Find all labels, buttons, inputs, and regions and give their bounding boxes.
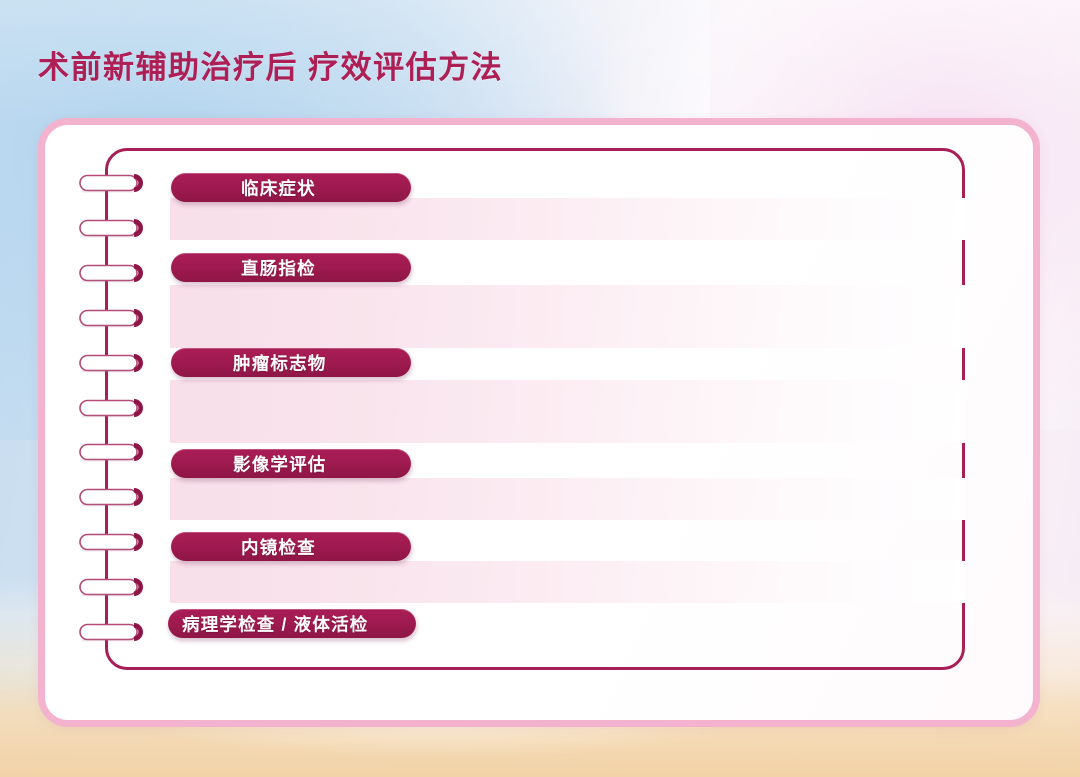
section-label-pill-imaging-evaluation[interactable]: 影像学评估 xyxy=(171,449,411,478)
section-body-panel xyxy=(170,285,965,348)
section-label-pill-endoscopy[interactable]: 内镜检查 xyxy=(171,532,411,561)
section-label-text: 直肠指检 xyxy=(241,255,316,280)
section-label-pill-digital-rectal-exam[interactable]: 直肠指检 xyxy=(171,253,411,282)
sections-container: 临床症状 通过对比新辅助治疗前后患者临床症状的改变，可以对疗效进行初步评估。 直… xyxy=(0,0,1080,777)
section-body-panel xyxy=(170,561,965,603)
section-label-text: 影像学评估 xyxy=(233,451,327,476)
section-body-panel xyxy=(170,380,965,443)
section-label-pill-clinical-symptoms[interactable]: 临床症状 xyxy=(171,173,411,202)
section-label-pill-tumor-markers[interactable]: 肿瘤标志物 xyxy=(171,348,411,377)
section-label-text: 病理学检查 / 液体活检 xyxy=(182,611,369,636)
section-label-text: 内镜检查 xyxy=(241,534,316,559)
section-label-pill-pathology-liquid-biopsy[interactable]: 病理学检查 / 液体活检 xyxy=(168,609,416,638)
section-body-panel xyxy=(170,478,965,520)
section-label-text: 临床症状 xyxy=(241,175,316,200)
section-label-text: 肿瘤标志物 xyxy=(233,350,327,375)
